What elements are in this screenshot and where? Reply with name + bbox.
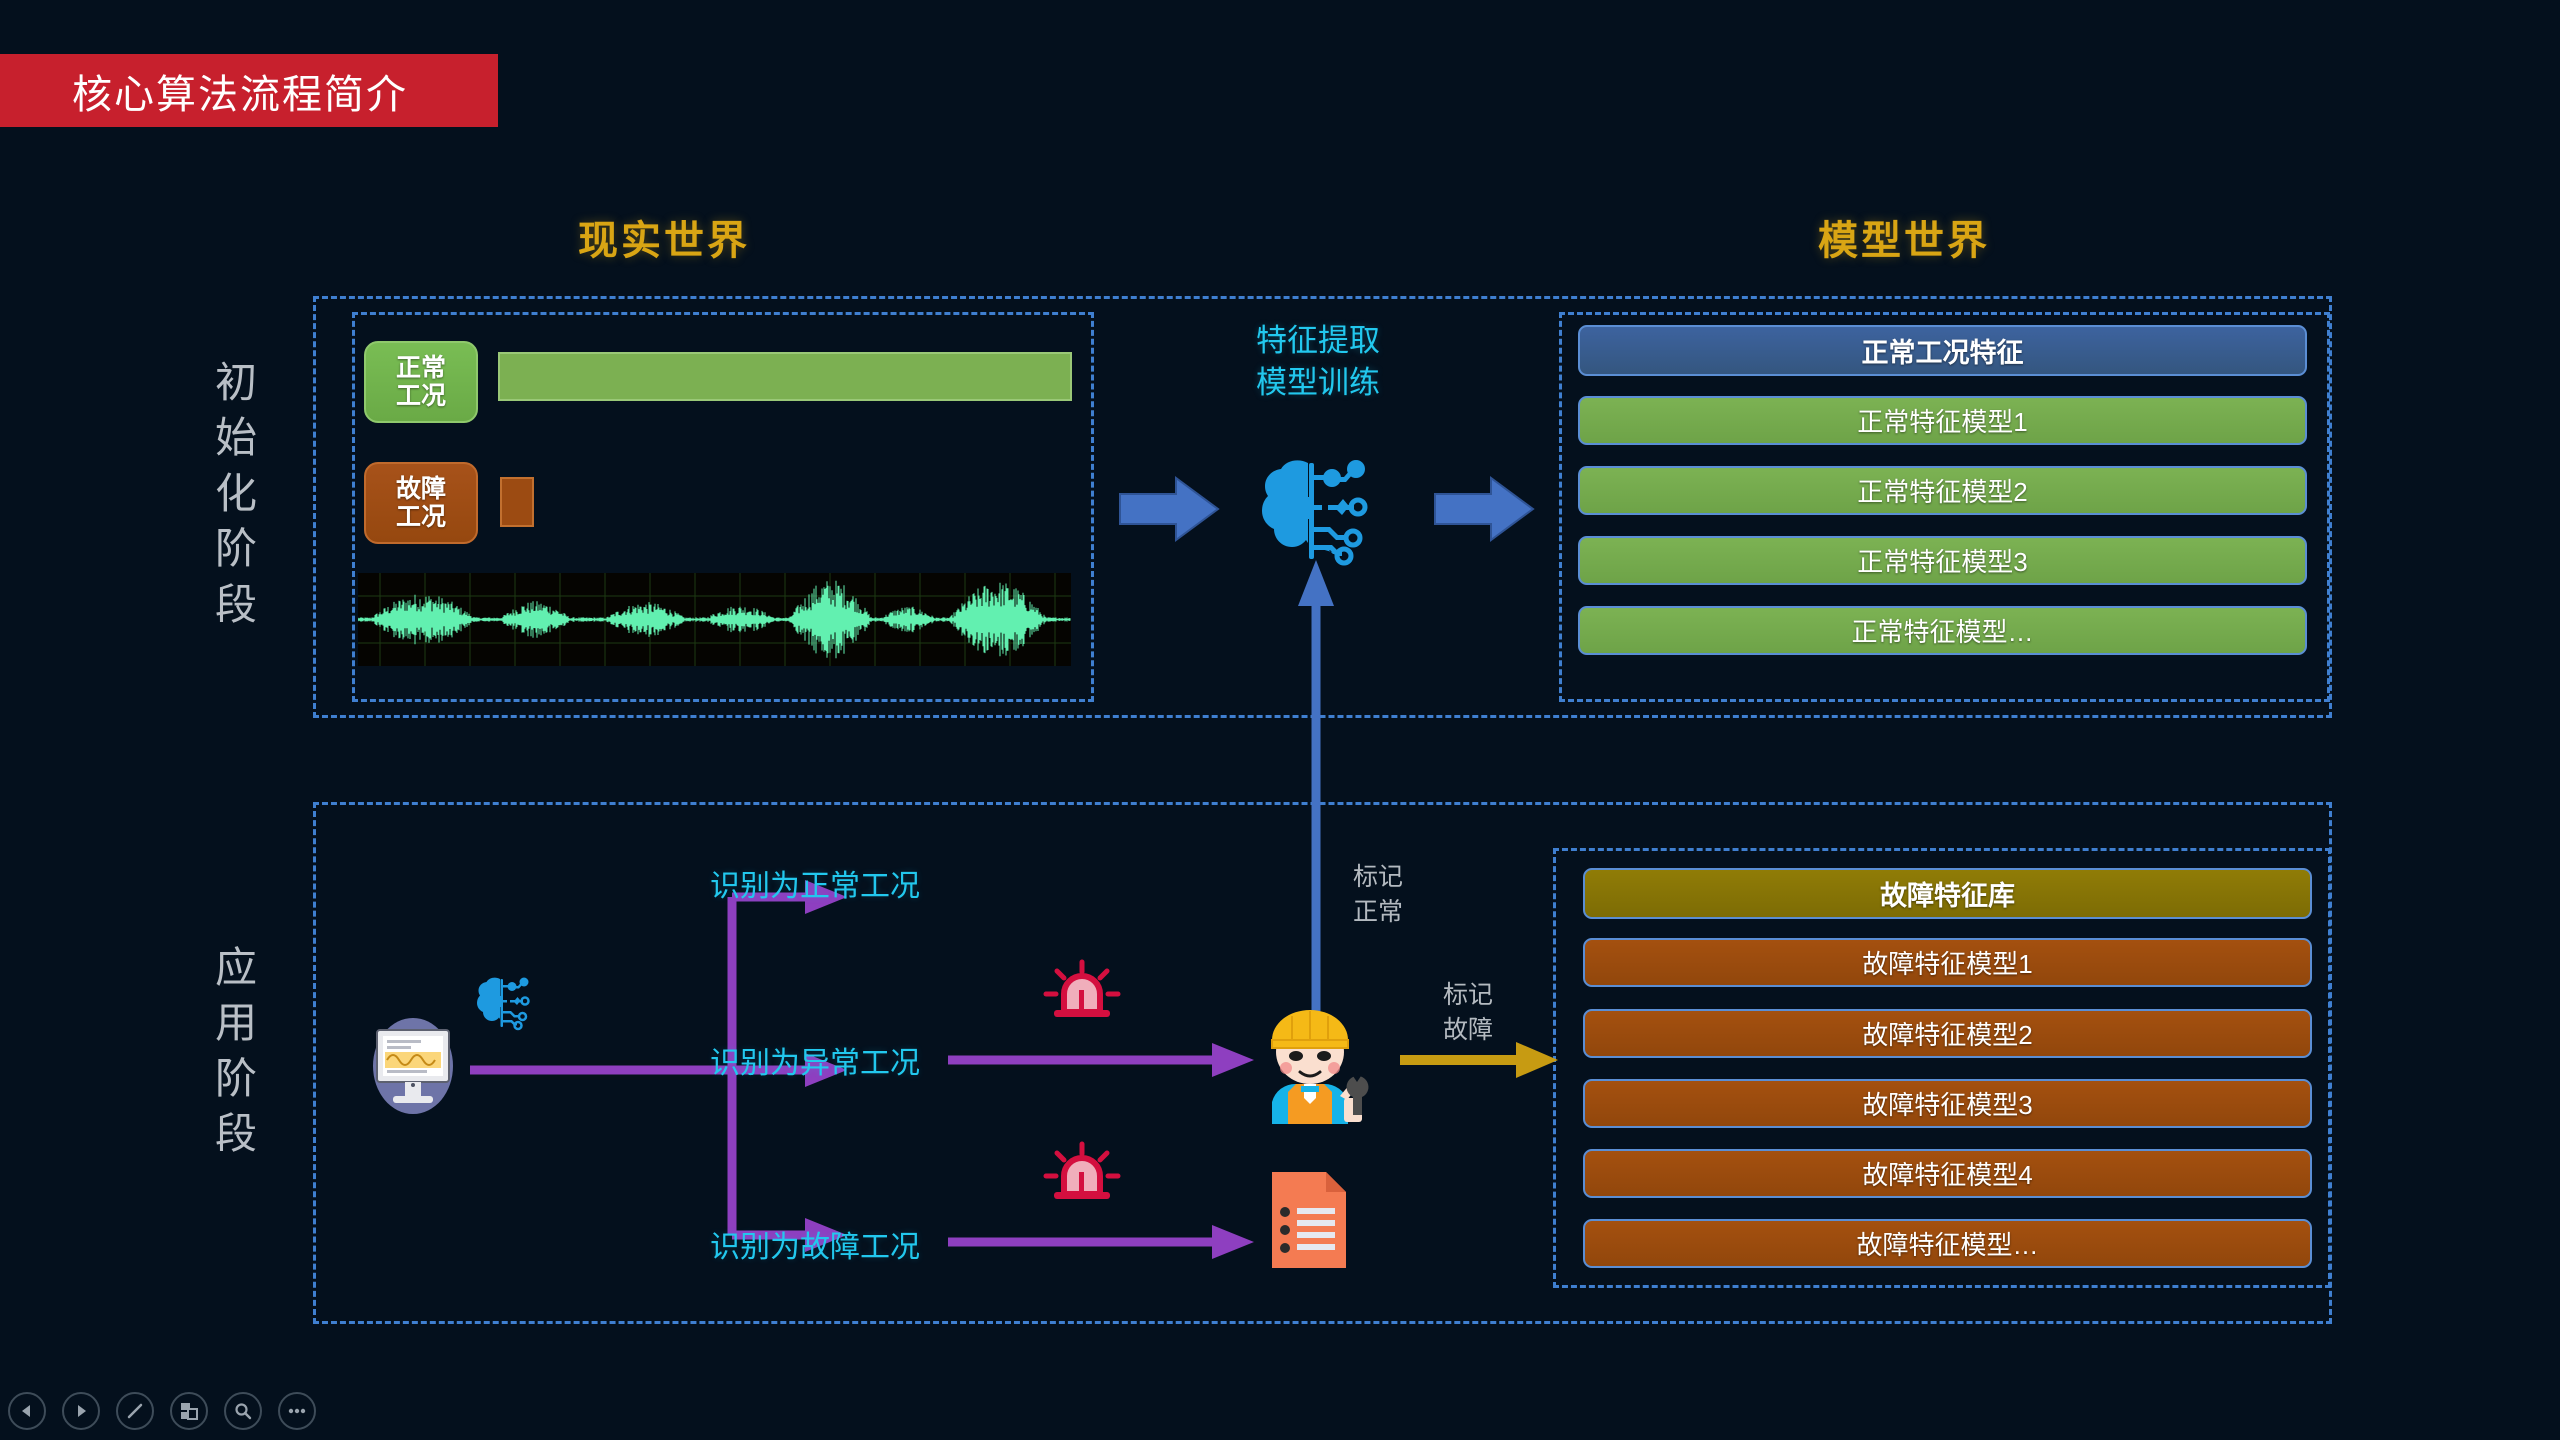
alarm-icon-2 [1042, 1140, 1122, 1216]
ai-brain-icon [1248, 455, 1380, 567]
waveform-trace [358, 581, 1070, 658]
fault-model-box-1[interactable]: 故障特征模型1 [1583, 938, 2312, 987]
slides-icon [180, 1402, 198, 1420]
next-icon [74, 1404, 88, 1418]
branch-label-abnormal: 识别为异常工况 [710, 1038, 920, 1082]
slide-title-banner: 核心算法流程简介 [0, 54, 498, 127]
monitor-icon [365, 1012, 461, 1116]
presentation-toolbar [8, 1392, 316, 1430]
fault-condition-label-1: 故障 [396, 475, 446, 503]
heading-model-world: 模型世界 [1818, 208, 1990, 266]
normal-data-bar [498, 352, 1072, 401]
next-slide-button[interactable] [62, 1392, 100, 1430]
arrow-abnormal-to-worker [948, 1040, 1258, 1080]
signal-waveform-panel [358, 573, 1071, 666]
feature-extraction-note: 特征提取 模型训练 [1228, 320, 1408, 404]
heading-real-world: 现实世界 [578, 208, 750, 266]
arrow-fault-to-document [948, 1222, 1258, 1262]
pen-tool-button[interactable] [116, 1392, 154, 1430]
waveform-svg [358, 573, 1071, 666]
phase-label-init: 初始化阶段 [205, 355, 267, 632]
mark-fault-line-1: 标记 [1428, 978, 1508, 1013]
slide-title: 核心算法流程简介 [72, 62, 408, 120]
fault-condition-button[interactable]: 故障 工况 [364, 462, 478, 544]
normal-model-box-3[interactable]: 正常特征模型3 [1578, 536, 2307, 585]
alarm-icon-1 [1042, 958, 1122, 1034]
normal-model-box-2[interactable]: 正常特征模型2 [1578, 466, 2307, 515]
fault-model-box-2[interactable]: 故障特征模型2 [1583, 1009, 2312, 1058]
zoom-icon [234, 1402, 252, 1420]
pen-icon [126, 1402, 144, 1420]
report-document-icon [1268, 1168, 1350, 1272]
normal-model-box-1[interactable]: 正常特征模型1 [1578, 396, 2307, 445]
mark-fault-line-2: 故障 [1428, 1013, 1508, 1048]
prev-icon [20, 1404, 34, 1418]
normal-condition-button[interactable]: 正常 工况 [364, 341, 478, 423]
normal-feature-header[interactable]: 正常工况特征 [1578, 325, 2307, 376]
arrow-right-1 [1120, 478, 1220, 540]
feature-extraction-line-2: 模型训练 [1228, 362, 1408, 404]
branch-label-normal: 识别为正常工况 [710, 861, 920, 905]
normal-condition-label-2: 工况 [396, 382, 446, 410]
worker-icon [1244, 1000, 1376, 1124]
fault-data-bar [500, 477, 534, 527]
arrow-mark-normal [1296, 560, 1336, 1070]
more-icon [288, 1408, 306, 1414]
mark-normal-line-2: 正常 [1338, 895, 1418, 930]
fault-model-box-4[interactable]: 故障特征模型4 [1583, 1149, 2312, 1198]
arrow-right-2 [1435, 478, 1535, 540]
feature-extraction-line-1: 特征提取 [1228, 320, 1408, 362]
mark-normal-line-1: 标记 [1338, 860, 1418, 895]
fault-feature-header[interactable]: 故障特征库 [1583, 868, 2312, 919]
normal-model-box-4[interactable]: 正常特征模型… [1578, 606, 2307, 655]
mark-normal-note: 标记 正常 [1338, 860, 1418, 930]
phase-label-apply: 应用阶段 [205, 940, 267, 1162]
prev-slide-button[interactable] [8, 1392, 46, 1430]
slide-overview-button[interactable] [170, 1392, 208, 1430]
normal-condition-label-1: 正常 [396, 354, 446, 382]
zoom-button[interactable] [224, 1392, 262, 1430]
branch-label-fault: 识别为故障工况 [710, 1222, 920, 1266]
fault-model-box-5[interactable]: 故障特征模型… [1583, 1219, 2312, 1268]
fault-condition-label-2: 工况 [396, 503, 446, 531]
slide-canvas: 核心算法流程简介 现实世界 模型世界 初始化阶段 应用阶段 正常 工况 故障 工… [0, 0, 2560, 1440]
more-options-button[interactable] [278, 1392, 316, 1430]
fault-model-box-3[interactable]: 故障特征模型3 [1583, 1079, 2312, 1128]
mark-fault-note: 标记 故障 [1428, 978, 1508, 1048]
